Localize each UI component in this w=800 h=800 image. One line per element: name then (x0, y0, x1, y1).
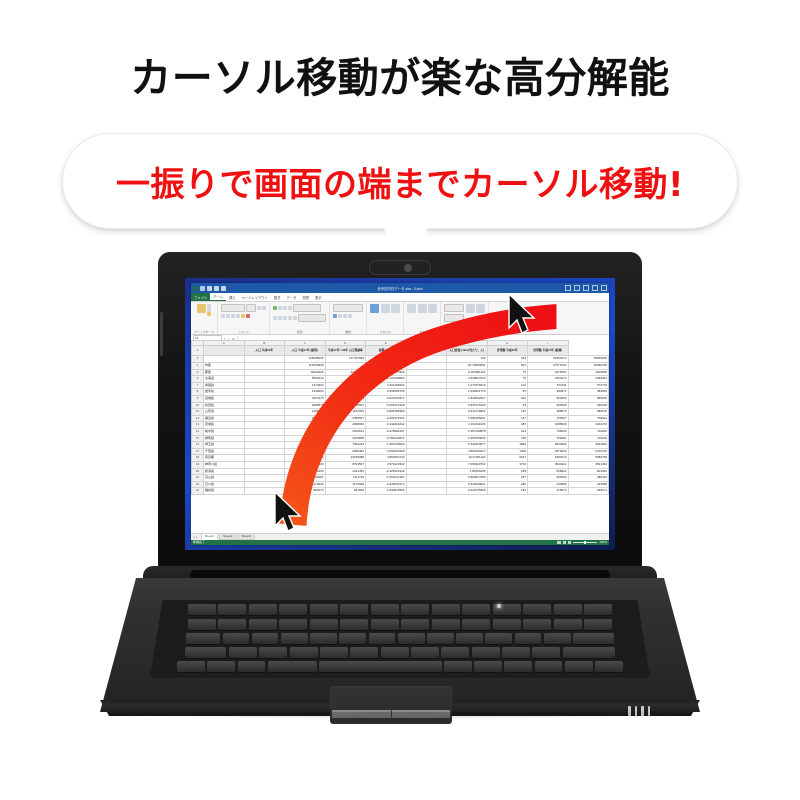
cell-value[interactable]: 4.330817019 (447, 376, 488, 383)
cell-value[interactable]: 390332 (528, 475, 569, 482)
cell-blank[interactable] (244, 475, 285, 482)
key[interactable] (185, 647, 226, 658)
key[interactable] (573, 633, 614, 644)
key[interactable] (186, 633, 220, 644)
cell-value[interactable]: 4.852654744 (366, 455, 407, 462)
cell-value[interactable]: 7054243 (325, 442, 366, 449)
cell-value[interactable]: 2960685 (285, 422, 326, 429)
key[interactable] (259, 647, 287, 658)
underline-icon[interactable] (231, 314, 235, 318)
key[interactable] (456, 633, 483, 644)
row-header[interactable]: 5 (192, 369, 204, 376)
table-row[interactable]: 4市部116156966-0.25506160790.7056069150147… (192, 363, 609, 370)
key[interactable] (371, 604, 399, 615)
font-name-box[interactable] (221, 304, 245, 312)
cell-value[interactable]: 2.579123302 (366, 461, 407, 468)
cell-value[interactable]: 13159388 (325, 455, 366, 462)
key[interactable] (472, 647, 500, 658)
cell-value[interactable]: 4209595 (568, 369, 609, 376)
key[interactable] (290, 647, 318, 658)
cell-value[interactable]: 1.85450405 (447, 468, 488, 475)
table-row[interactable]: 5郡部1190202612284003-2.9536979929.2943911… (192, 369, 609, 376)
paste-icon[interactable] (197, 304, 206, 313)
row-header[interactable]: 21 (192, 475, 204, 482)
key[interactable] (502, 647, 530, 658)
cell-value[interactable]: 1170040 (285, 481, 326, 488)
italic-icon[interactable] (226, 314, 230, 318)
cell-value[interactable]: 116156966 (285, 363, 326, 370)
cell-value[interactable] (406, 402, 447, 409)
close-icon[interactable] (601, 285, 607, 291)
align-middle-icon[interactable] (278, 306, 282, 310)
key[interactable] (515, 633, 542, 644)
cell-region-label[interactable]: 富山県 (204, 475, 245, 482)
cell-region-label[interactable]: 福島県 (204, 415, 245, 422)
cell-value[interactable]: 100 (447, 356, 488, 363)
cell-value[interactable]: 147 (487, 415, 528, 422)
cell-value[interactable]: 10.27351192 (447, 455, 488, 462)
insert-cells-icon[interactable] (407, 304, 416, 313)
cell-value[interactable]: 440985 (528, 481, 569, 488)
zoom-level[interactable]: 100% (599, 540, 607, 544)
key[interactable] (340, 619, 368, 630)
cell-region-label[interactable]: 埼玉県 (204, 442, 245, 449)
cell-blank[interactable] (244, 448, 285, 455)
tab-view[interactable]: 表示 (312, 293, 325, 301)
cell-value[interactable]: 390335 (528, 402, 569, 409)
align-top-icon[interactable] (273, 306, 277, 310)
cell-value[interactable]: -2.399174021 (366, 415, 407, 422)
border-icon[interactable] (236, 314, 240, 318)
next-sheet-icon[interactable]: ▸ (196, 535, 198, 539)
key[interactable] (310, 619, 338, 630)
cell-value[interactable]: 483971 (528, 389, 569, 396)
header-cell[interactable]: 世帯数 平成17年 (組替) (528, 346, 569, 356)
key[interactable] (401, 604, 429, 615)
restore-icon[interactable] (592, 285, 598, 291)
normal-view-icon[interactable] (557, 541, 560, 544)
cell-value[interactable]: 13661755 (285, 455, 326, 462)
cell-value[interactable] (406, 422, 447, 429)
ribbon-group-styles[interactable]: スタイル (367, 302, 404, 334)
cell-blank[interactable] (244, 402, 285, 409)
cell-value[interactable]: 5627737 (325, 376, 366, 383)
table-row[interactable]: 17千葉県621711960564622.6526543084.85409941… (192, 448, 609, 455)
row-header[interactable]: 16 (192, 442, 204, 449)
cell-value[interactable]: 93 (487, 402, 528, 409)
key[interactable] (398, 633, 425, 644)
decrease-indent-icon[interactable] (288, 316, 292, 320)
cell-value[interactable]: 11902026 (285, 369, 326, 376)
cell-region-label[interactable]: 岩手県 (204, 389, 245, 396)
cell-value[interactable]: 1187062 (325, 409, 366, 416)
cell-value[interactable]: 720927 (528, 415, 569, 422)
cell-value[interactable]: 3591462 (568, 461, 609, 468)
key[interactable] (339, 633, 366, 644)
cell-value[interactable]: 865200 (568, 395, 609, 402)
key[interactable] (340, 604, 368, 615)
format-cells-icon[interactable] (428, 304, 437, 313)
cell-value[interactable]: 1111729 (325, 475, 366, 482)
format-painter-icon[interactable] (207, 312, 211, 316)
cell-region-label[interactable]: 群馬県 (204, 435, 245, 442)
key[interactable] (444, 661, 472, 672)
key[interactable] (249, 619, 277, 630)
cell-value[interactable]: 128098205 (285, 356, 326, 363)
cell-value[interactable]: 380332 (568, 475, 609, 482)
cell-value[interactable]: 806470 (285, 488, 326, 495)
cell-value[interactable]: 1.072315019 (447, 382, 488, 389)
cell-value[interactable]: 801562 (568, 468, 609, 475)
cell-blank[interactable] (244, 382, 285, 389)
row-header[interactable]: 9 (192, 395, 204, 402)
cell-value[interactable]: 2575032 (528, 448, 569, 455)
ribbon-display-icon[interactable] (574, 285, 580, 291)
cell-value[interactable]: -3.936695766 (366, 389, 407, 396)
cell-value[interactable] (406, 468, 447, 475)
cell-value[interactable]: 2015828 (325, 435, 366, 442)
key[interactable] (462, 604, 490, 615)
cell-value[interactable]: -1.840573596 (366, 488, 407, 495)
cell-value[interactable]: 189 (487, 468, 528, 475)
wrap-text-button[interactable] (293, 304, 321, 312)
row-header[interactable]: 23 (192, 488, 204, 495)
cell-value[interactable]: 1168789 (285, 409, 326, 416)
cell-value[interactable]: 2.313411006 (447, 422, 488, 429)
cell-value[interactable]: 4.854099417 (447, 448, 488, 455)
key[interactable] (411, 647, 439, 658)
ribbon-group-font[interactable]: フォント (218, 302, 270, 334)
fill-button[interactable] (444, 314, 464, 322)
cell-value[interactable]: 483509 (568, 389, 609, 396)
font-size-box[interactable] (246, 304, 256, 312)
window-controls[interactable] (565, 285, 607, 291)
minimize-icon[interactable] (583, 285, 589, 291)
cell-value[interactable]: 2360251 (568, 376, 609, 383)
first-sheet-icon[interactable]: ◂ (193, 535, 195, 539)
cell-value[interactable]: 726169 (568, 435, 609, 442)
key[interactable] (595, 661, 623, 672)
cell-value[interactable] (406, 382, 447, 389)
cell-blank[interactable] (244, 376, 285, 383)
ribbon-tabs[interactable]: ファイル ホーム 挿入 ページレイアウト 数式 データ 校閲 表示 (191, 293, 609, 302)
cell-value[interactable]: 1085878 (285, 402, 326, 409)
cell-value[interactable]: 5.611800077 (447, 442, 488, 449)
table-row[interactable]: 18東京都13661755131593884.85265474410.27351… (192, 455, 609, 462)
table-row[interactable]: 9宮城県23479752360218-0.5197032711.83356291… (192, 395, 609, 402)
cell-value[interactable]: 6017 (487, 455, 528, 462)
key[interactable] (554, 619, 582, 630)
keyboard-row-bottom[interactable] (150, 661, 650, 672)
cell-value[interactable]: 1330000 (285, 389, 326, 396)
cell-value[interactable]: 1436657 (325, 382, 366, 389)
cell-value[interactable]: -1.651641461 (366, 475, 407, 482)
cell-value[interactable]: 3746 (487, 461, 528, 468)
cell-value[interactable]: -0.476804467 (366, 428, 407, 435)
cell-value[interactable]: 821592 (325, 488, 366, 495)
cell-value[interactable]: -2.953697992 (366, 369, 407, 376)
cell-value[interactable] (406, 363, 447, 370)
cell-value[interactable]: 6217119 (285, 448, 326, 455)
cell-value[interactable]: 838921 (528, 468, 569, 475)
cell-value[interactable]: 47672102 (528, 363, 569, 370)
key[interactable] (320, 647, 348, 658)
cell-region-label[interactable]: 東京都 (204, 455, 245, 462)
key[interactable] (493, 619, 521, 630)
header-cell[interactable]: 平成17年〜22年 人口増減率 (325, 346, 366, 356)
cell-value[interactable]: 8791597 (325, 461, 366, 468)
align-left-icon[interactable] (273, 316, 277, 320)
sort-filter-icon[interactable] (466, 304, 475, 313)
key[interactable] (350, 647, 378, 658)
header-cell[interactable]: 可住地面積割合 (%) (406, 346, 447, 356)
row-header[interactable]: 18 (192, 455, 204, 462)
header-cell[interactable]: 人口密度 (1km2当たり、人) (447, 346, 488, 356)
cell-region-label[interactable]: 郡部 (204, 369, 245, 376)
key[interactable] (279, 619, 307, 630)
cell-value[interactable]: 1373394 (285, 382, 326, 389)
tablet-side-button[interactable] (160, 312, 163, 356)
keyboard[interactable] (150, 600, 650, 678)
cell-value[interactable] (406, 455, 447, 462)
cell-value[interactable]: 501 (487, 363, 528, 370)
cell-value[interactable] (406, 369, 447, 376)
cell-value[interactable]: 9049500 (285, 461, 326, 468)
header-cell[interactable]: 人口 平成22年 (244, 346, 285, 356)
cell-value[interactable] (406, 376, 447, 383)
keyboard-row-home[interactable] (150, 647, 650, 658)
cell-value[interactable]: 572776 (568, 382, 609, 389)
cell-value[interactable]: -0.339615474 (366, 481, 407, 488)
cell-value[interactable]: 3943424 (528, 461, 569, 468)
table-row[interactable]: 2 人口 平成22年 人口 平成17年 (組替) 平成17年〜22年 人口増減率… (192, 346, 609, 356)
cell-value[interactable]: 1.560784006 (447, 435, 488, 442)
cell-value[interactable]: 1145501 (325, 402, 366, 409)
cell-value[interactable] (325, 363, 366, 370)
cell-region-label[interactable]: 宮城県 (204, 395, 245, 402)
cell-value[interactable]: -0.211821042 (366, 422, 407, 429)
key[interactable] (177, 661, 205, 672)
key[interactable] (381, 647, 409, 658)
bold-icon[interactable] (221, 314, 225, 318)
key[interactable] (554, 604, 582, 615)
cell-value[interactable]: 0.913000021 (447, 481, 488, 488)
table-row[interactable]: 11山形県11687891187062-0.8967869890.9127189… (192, 409, 609, 416)
cell-value[interactable]: 0.912718901 (447, 409, 488, 416)
increase-decimal-icon[interactable] (348, 314, 352, 318)
cell-value[interactable]: -0.781910847 (366, 435, 407, 442)
tab-formulas[interactable]: 数式 (271, 293, 284, 301)
cell-value[interactable]: 275674 (528, 488, 569, 495)
table-row[interactable]: 13茨城県29606852968000-0.2118210422.3134110… (192, 422, 609, 429)
cell-value[interactable] (406, 481, 447, 488)
cell-value[interactable] (406, 428, 447, 435)
key[interactable] (584, 604, 612, 615)
cell-value[interactable]: -2.325221942 (366, 468, 407, 475)
key[interactable] (279, 604, 307, 615)
cell-value[interactable] (406, 461, 447, 468)
cell-value[interactable] (406, 409, 447, 416)
row-header[interactable]: 2 (192, 346, 204, 356)
cell-value[interactable] (406, 356, 447, 363)
cell-value[interactable]: 90.70560691 (447, 363, 488, 370)
key[interactable] (485, 633, 512, 644)
cell-value[interactable]: 2374450 (285, 468, 326, 475)
cell-styles-icon[interactable] (391, 304, 400, 313)
merge-center-button[interactable] (298, 314, 326, 322)
cell-value[interactable]: 313 (487, 428, 528, 435)
cell-value[interactable]: 127767994 (325, 356, 366, 363)
tab-file[interactable]: ファイル (191, 293, 210, 301)
cell-value[interactable]: 758291 (528, 435, 569, 442)
cell-value[interactable]: 2431459 (325, 468, 366, 475)
cell-value[interactable]: 142 (487, 382, 528, 389)
cell-value[interactable]: 4278791 (528, 369, 569, 376)
number-format-select[interactable] (333, 304, 363, 312)
cell-blank[interactable] (244, 409, 285, 416)
cell-value[interactable]: 5980798 (568, 455, 609, 462)
sheet-table[interactable]: A B C D E F G H I (191, 340, 609, 495)
cell-value[interactable]: 5506419 (285, 376, 326, 383)
increase-font-icon[interactable] (257, 306, 261, 310)
cell-blank[interactable] (244, 395, 285, 402)
table-row[interactable]: 8岩手県13300001385041-3.9366957661.03902177… (192, 389, 609, 396)
cell-value[interactable]: 746046 (528, 428, 569, 435)
cell-value[interactable]: -0.255061607 (366, 363, 407, 370)
cell-blank[interactable] (244, 481, 285, 488)
cell-blank[interactable] (244, 435, 285, 442)
cell-value[interactable]: 487 (487, 422, 528, 429)
cell-blank[interactable] (244, 422, 285, 429)
table-row[interactable]: 23福井県806470821592-1.8405735960.629775909… (192, 488, 609, 495)
cell-blank[interactable] (244, 428, 285, 435)
table-row[interactable]: 31280982051277679940.2583605291003435195… (192, 356, 609, 363)
cell-value[interactable]: 2376732 (568, 448, 609, 455)
table-row[interactable]: 21富山県10930811111729-1.6516414610.8509176… (192, 475, 609, 482)
table-row[interactable]: 14栃木県20070142016631-0.4768044671.5672308… (192, 428, 609, 435)
cell-value[interactable]: 70 (487, 376, 528, 383)
cell-value[interactable]: 192 (487, 488, 528, 495)
row-header[interactable]: 7 (192, 382, 204, 389)
cell-region-label[interactable]: 福井県 (204, 488, 245, 495)
autosum-button[interactable] (444, 304, 464, 312)
cell-value[interactable]: 9.294391161 (447, 369, 488, 376)
cell-value[interactable]: 45360700 (568, 363, 609, 370)
key[interactable] (310, 604, 338, 615)
cell-blank[interactable] (244, 369, 285, 376)
cell-value[interactable]: 2029752 (285, 415, 326, 422)
key[interactable] (207, 661, 235, 672)
format-as-table-icon[interactable] (381, 304, 390, 313)
cell-region-label[interactable]: 石川県 (204, 481, 245, 488)
key[interactable] (462, 619, 490, 630)
key[interactable] (432, 619, 460, 630)
cell-value[interactable] (406, 488, 447, 495)
row-header[interactable]: 4 (192, 363, 204, 370)
cell-value[interactable]: 388670 (528, 409, 569, 416)
cell-value[interactable]: 1.992700026 (366, 442, 407, 449)
sheet-body[interactable]: 2 人口 平成22年 人口 平成17年 (組替) 平成17年〜22年 人口増減率… (192, 346, 609, 494)
sheet-tab-bar[interactable]: ◂ ▸ Sheet1 Sheet2 Sheet3 (191, 533, 609, 540)
cell-value[interactable]: 1088946 (528, 422, 569, 429)
cell-value[interactable]: 1.833562917 (447, 395, 488, 402)
cell-value[interactable]: 76 (487, 369, 528, 376)
key[interactable] (238, 661, 266, 672)
cell-value[interactable]: 2008170 (285, 435, 326, 442)
cell-value[interactable]: 7.066920702 (447, 461, 488, 468)
cell-value[interactable]: 6483219 (528, 455, 569, 462)
cell-value[interactable]: 1385041 (325, 389, 366, 396)
table-row[interactable]: 12福島県20297522082567-2.3991740211.5842850… (192, 415, 609, 422)
table-row[interactable]: 6北海道55064195627737-2.1370288024.33081701… (192, 376, 609, 383)
header-cell[interactable]: 人口 平成17年 (組替) (285, 346, 326, 356)
tab-data[interactable]: データ (283, 293, 299, 301)
cell-region-label[interactable]: 神奈川県 (204, 461, 245, 468)
cell-value[interactable]: 1.567230878 (447, 428, 488, 435)
font-color-icon[interactable] (246, 314, 250, 318)
keyboard-row-top[interactable] (150, 633, 650, 644)
ribbon-group-number[interactable]: 数値 (330, 302, 367, 334)
key[interactable] (427, 633, 454, 644)
cell-blank[interactable] (244, 468, 285, 475)
zoom-slider[interactable] (573, 541, 597, 544)
cell-value[interactable]: -5.204671948 (366, 402, 407, 409)
ribbon-group-editing[interactable]: 編集 (441, 302, 489, 334)
cell-value[interactable]: 6056462 (325, 448, 366, 455)
cell-value[interactable]: 322 (487, 395, 528, 402)
key[interactable] (229, 647, 257, 658)
cell-value[interactable]: 1206 (487, 448, 528, 455)
key[interactable] (218, 604, 246, 615)
cell-value[interactable] (406, 475, 447, 482)
cell-value[interactable]: 125 (487, 409, 528, 416)
key[interactable] (432, 604, 460, 615)
cell-value[interactable]: 709644 (568, 415, 609, 422)
key[interactable] (188, 604, 216, 615)
cell-value[interactable]: 390306 (568, 402, 609, 409)
cell-value[interactable]: 2.652654308 (366, 448, 407, 455)
key[interactable] (504, 661, 532, 672)
cell-value[interactable]: 316 (487, 435, 528, 442)
cell-blank[interactable] (244, 488, 285, 495)
cell-region-label[interactable]: 市部 (204, 363, 245, 370)
cell-value[interactable] (406, 395, 447, 402)
header-cell[interactable]: 面積 (km2) (366, 346, 407, 356)
cell-value[interactable]: 1.584285061 (447, 415, 488, 422)
row-header[interactable]: 11 (192, 409, 204, 416)
cell-value[interactable]: 2007014 (285, 428, 326, 435)
cell-value[interactable]: 2360218 (325, 395, 366, 402)
cell-value[interactable]: 12284003 (325, 369, 366, 376)
tab-review[interactable]: 校閲 (299, 293, 312, 301)
table-row[interactable]: 7青森県13733941436657-4.4014660941.07231501… (192, 382, 609, 389)
table-row[interactable]: 15群馬県20081702015828-0.7819108471.5607840… (192, 435, 609, 442)
key[interactable] (565, 661, 593, 672)
ribbon[interactable]: クリップボード (191, 302, 609, 335)
spreadsheet-grid[interactable]: A B C D E F G H I (191, 340, 609, 534)
tab-page-layout[interactable]: ページレイアウト (239, 293, 271, 301)
fill-color-icon[interactable] (241, 314, 245, 318)
row-header[interactable]: 22 (192, 481, 204, 488)
key[interactable] (268, 661, 317, 672)
row-header[interactable]: 8 (192, 389, 204, 396)
cell-value[interactable]: -0.519703271 (366, 395, 407, 402)
cell-value[interactable]: 1894 (487, 442, 528, 449)
delete-cells-icon[interactable] (418, 304, 427, 313)
cell-region-label[interactable]: 秋田県 (204, 402, 245, 409)
row-header[interactable]: 3 (192, 356, 204, 363)
cell-value[interactable]: 2642992 (568, 442, 609, 449)
